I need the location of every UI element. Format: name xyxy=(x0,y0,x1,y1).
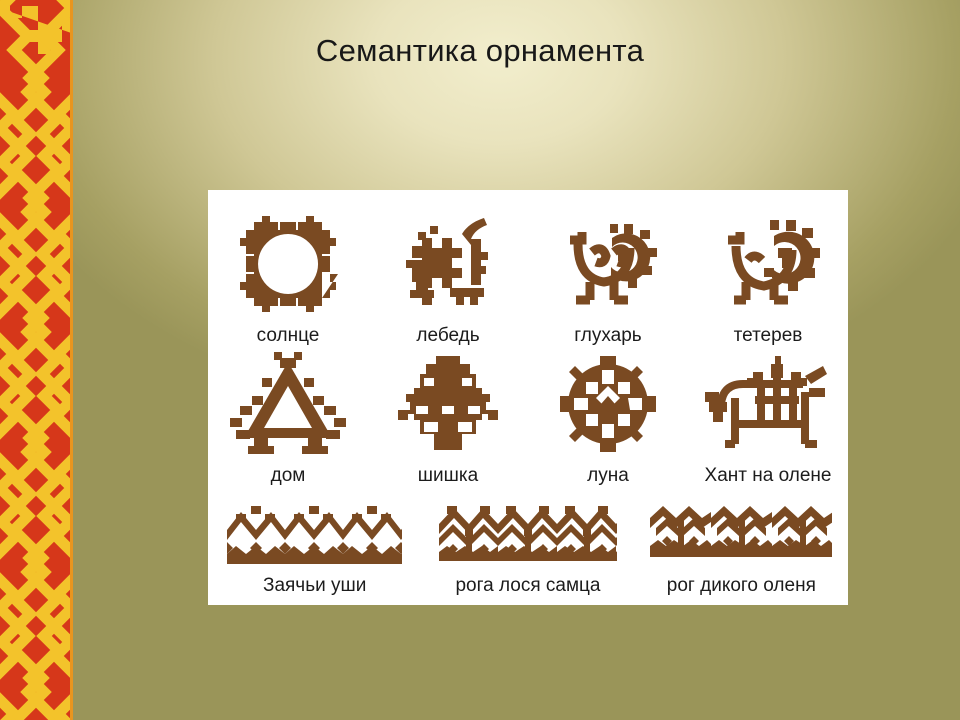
hare-ears-border-icon xyxy=(227,504,402,571)
ornament-chart-card: солнце xyxy=(208,190,848,605)
ornament-item-moon[interactable]: луна xyxy=(528,345,688,485)
ornament-item-swan[interactable]: лебедь xyxy=(368,200,528,345)
ornament-item-house[interactable]: дом xyxy=(208,345,368,485)
black-grouse-motif-icon xyxy=(712,208,824,321)
ornament-item-pinecone[interactable]: шишка xyxy=(368,345,528,485)
ornament-row-3: Заячьи уши xyxy=(208,485,848,595)
swan-motif-icon xyxy=(392,208,504,321)
wild-deer-antler-border-icon xyxy=(650,504,832,571)
capercaillie-motif-icon xyxy=(552,208,664,321)
left-ornament-band xyxy=(0,0,73,720)
ornament-label: тетерев xyxy=(734,326,803,345)
ornament-label: Хант на олене xyxy=(705,466,832,485)
ornament-item-wild-deer-antler[interactable]: рог дикого оленя xyxy=(635,485,848,595)
ornament-item-capercaillie[interactable]: глухарь xyxy=(528,200,688,345)
ornament-label: рога лося самца xyxy=(455,576,600,595)
ornament-label: глухарь xyxy=(574,326,641,345)
ornament-label: дом xyxy=(271,466,306,485)
ornament-item-black-grouse[interactable]: тетерев xyxy=(688,200,848,345)
khant-on-reindeer-motif-icon xyxy=(705,352,831,461)
ornament-label: шишка xyxy=(418,466,478,485)
sun-motif-icon xyxy=(232,208,344,321)
male-elk-antlers-border-icon xyxy=(439,504,617,571)
ornament-label: Заячьи уши xyxy=(263,576,366,595)
ornament-item-sun[interactable]: солнце xyxy=(208,200,368,345)
slide: Семантика орнамента xyxy=(0,0,960,720)
page-title: Семантика орнамента xyxy=(0,33,960,69)
ornament-row-2: дом xyxy=(208,345,848,485)
moon-motif-icon xyxy=(556,352,660,461)
ornament-row-1: солнце xyxy=(208,200,848,345)
ornament-item-khant-on-reindeer[interactable]: Хант на олене xyxy=(688,345,848,485)
ornament-label: лебедь xyxy=(416,326,479,345)
band-pattern-icon xyxy=(0,0,73,720)
ornament-label: солнце xyxy=(257,326,320,345)
ornament-item-hare-ears[interactable]: Заячьи уши xyxy=(208,485,421,595)
ornament-label: рог дикого оленя xyxy=(667,576,816,595)
band-right-edge xyxy=(70,0,73,720)
ornament-label: луна xyxy=(587,466,629,485)
house-motif-icon xyxy=(228,352,348,461)
ornament-item-male-elk-antlers[interactable]: рога лося самца xyxy=(421,485,634,595)
pinecone-motif-icon xyxy=(390,352,506,461)
